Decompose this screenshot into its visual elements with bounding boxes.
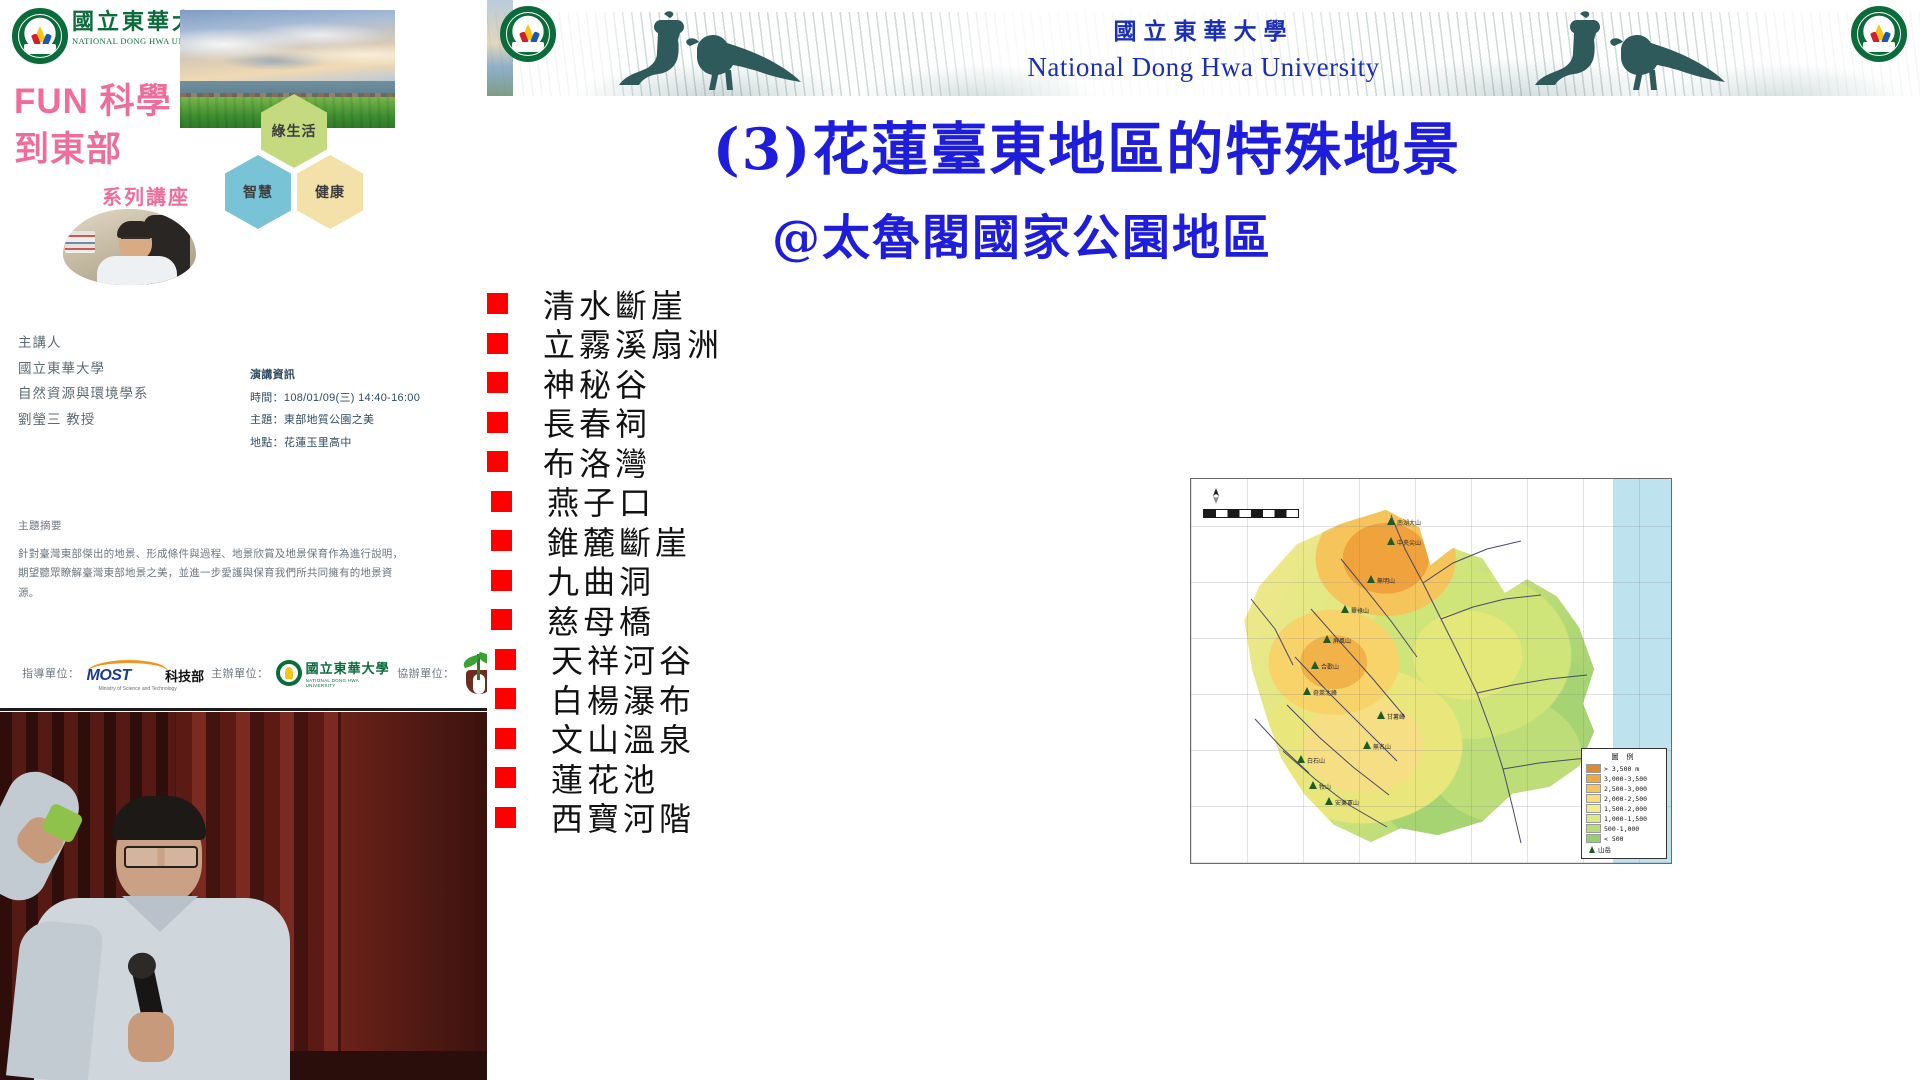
legend-label: 1,500-2,000 [1604,805,1647,813]
guidance-unit-label: 指導單位： [22,665,80,681]
event-venue: 地點：花蓮玉里高中 [250,432,420,455]
mountain-peak-icon [1309,781,1317,789]
taroko-topographic-map: 南湖大山中央尖山無明山畢祿山屏風山合歡山奇萊北峰甘薯峰無名山白石山牧山安東軍山 … [1190,478,1672,864]
peak-label: 牧山 [1319,782,1331,791]
legend-color-swatch [1586,794,1601,803]
legend-row: < 500 [1586,834,1662,843]
mountain-peak-icon [1341,605,1349,613]
ndhu-logo-icon [500,6,556,62]
legend-label: 3,000-3,500 [1604,775,1647,783]
event-info-heading: 演講資訊 [250,364,420,387]
ndhu-logo-small-icon: 國立東華大學 NATIONAL DONG HWA UNIVERSITY [276,658,390,688]
bullet-square-icon [491,570,512,591]
legend-row: 1,000-1,500 [1586,814,1662,823]
bullet-item: 布洛灣 [487,442,817,482]
peak-label: 南湖大山 [1397,518,1421,527]
abstract-body: 針對臺灣東部傑出的地景、形成條件與過程、地景欣賞及地景保育作為進行說明， 期望聽… [18,545,478,603]
sponsor-row: 指導單位： MOST 科技部 Ministry of Science and T… [22,652,487,694]
bullet-item: 燕子口 [487,482,817,522]
bullet-square-icon [487,372,508,393]
event-topic: 主題：東部地質公園之美 [250,409,420,432]
bullet-square-icon [491,609,512,630]
map-scale-bar [1203,509,1299,518]
slide-title: (3)花蓮臺東地區的特殊地景 [487,104,1687,186]
speaker-video-feed[interactable] [0,712,487,1080]
legend-peak-row: 山岳 [1586,844,1662,854]
slide-area: 國立東華大學 National Dong Hwa University (3)花… [487,0,1920,1080]
bullet-item: 蓮花池 [487,758,817,798]
peak-label: 無名山 [1373,742,1391,751]
mountain-peak-icon [1303,687,1311,695]
bullet-square-icon [487,333,508,354]
mountain-peak-icon [1323,635,1331,643]
elevation-legend: 圖 例 > 3,500 m3,000-3,5002,500-3,0002,000… [1581,748,1667,859]
bullet-item: 天祥河谷 [487,640,817,680]
legend-color-swatch [1586,774,1601,783]
speaker-portrait [63,209,196,285]
sprout-logo-icon [462,652,487,694]
abstract-heading: 主題摘要 [18,518,62,533]
most-logo-icon: MOST 科技部 Ministry of Science and Technol… [87,660,205,686]
mountain-peak-icon [1367,575,1375,583]
hexagon-label: 健康 [315,182,345,202]
bullet-item: 立霧溪扇洲 [487,324,817,364]
speaker-info: 主講人 國立東華大學 自然資源與環境學系 劉瑩三 教授 [18,330,149,433]
legend-label: 500-1,000 [1604,825,1639,833]
compass-icon [1207,487,1225,505]
mountain-peak-icon [1297,755,1305,763]
bullet-square-icon [487,451,508,472]
bullet-square-icon [495,728,516,749]
legend-color-swatch [1586,814,1601,823]
mountain-peak-icon [1363,741,1371,749]
speaker-role-label: 主講人 [18,330,149,356]
bullet-square-icon [495,688,516,709]
bullet-square-icon [487,293,508,314]
bullet-item: 西寶河階 [487,798,817,838]
legend-row: 2,000-2,500 [1586,794,1662,803]
abstract-line-2: 期望聽眾瞭解臺灣東部地景之美，並進一步愛護與保育我們所共同擁有的地景資 [18,564,478,583]
bullet-item: 慈母橋 [487,600,817,640]
poster-divider [0,708,487,711]
legend-label: < 500 [1604,835,1624,843]
host-name-en: NATIONAL DONG HWA UNIVERSITY [306,678,391,688]
bullet-item: 清水斷崖 [487,284,817,324]
bullet-square-icon [495,767,516,788]
bullet-item: 長春祠 [487,403,817,443]
legend-label: 1,000-1,500 [1604,815,1647,823]
legend-row: 1,500-2,000 [1586,804,1662,813]
ndhu-logo-icon [12,8,68,64]
legend-color-swatch [1586,804,1601,813]
bullet-label: 西寶河階 [551,794,695,840]
peak-label: 中央尖山 [1397,538,1421,547]
peak-label: 白石山 [1307,756,1325,765]
glasses-icon [124,846,198,868]
speaker-affiliation-university: 國立東華大學 [18,356,149,382]
legend-row: > 3,500 m [1586,764,1662,773]
bullet-item: 九曲洞 [487,561,817,601]
abstract-line-3: 源。 [18,584,478,603]
presentation-screenshot: 國立東華大學 NATIONAL DONG HWA UNIVERSITY FUN … [0,0,1920,1080]
mountain-peak-icon [1387,537,1395,545]
bullet-item: 錐麓斷崖 [487,521,817,561]
abstract-line-1: 針對臺灣東部傑出的地景、形成條件與過程、地景欣賞及地景保育作為進行說明， [18,545,478,564]
speaker-name: 劉瑩三 教授 [18,407,149,433]
hexagon-health: 健康 [297,155,363,229]
slide-subtitle: @太魯閣國家公園地區 [472,198,1572,268]
speaker-affiliation-department: 自然資源與環境學系 [18,381,149,407]
mountain-peak-icon [1387,517,1395,525]
ndhu-logo-icon [1851,6,1907,62]
legend-label: > 3,500 m [1604,765,1639,773]
bullet-item: 白楊瀑布 [487,679,817,719]
host-unit-label: 主辦單位： [211,665,269,681]
series-title-line2: 到東部 [14,130,244,170]
legend-color-swatch [1586,824,1601,833]
mountain-peak-icon [1325,797,1333,805]
hexagon-label: 綠生活 [272,121,317,141]
host-name-cn: 國立東華大學 [306,661,390,676]
series-title-line3: 系列講座 [102,181,244,210]
event-info: 演講資訊 時間：108/01/09(三) 14:40-16:00 主題：東部地質… [250,364,420,454]
coorganizer-unit-label: 協辦單位： [397,665,455,681]
legend-label: 2,000-2,500 [1604,795,1647,803]
legend-color-swatch [1586,834,1601,843]
peak-label: 屏風山 [1333,636,1351,645]
banner-title-cn: 國立東華大學 [487,12,1920,46]
hexagon-label: 智慧 [243,182,273,202]
bullet-list: 清水斷崖立霧溪扇洲神秘谷長春祠布洛灣燕子口錐麓斷崖九曲洞慈母橋天祥河谷白楊瀑布文… [487,284,817,837]
bullet-square-icon [491,491,512,512]
university-banner: 國立東華大學 National Dong Hwa University [487,0,1920,96]
bullet-item: 文山溫泉 [487,719,817,759]
legend-row: 3,000-3,500 [1586,774,1662,783]
mountain-peak-icon [1589,846,1595,853]
seminar-poster-panel: 國立東華大學 NATIONAL DONG HWA UNIVERSITY FUN … [0,0,487,712]
banner-title-block: 國立東華大學 National Dong Hwa University [487,12,1920,83]
bullet-square-icon [495,807,516,828]
peak-label: 安東軍山 [1335,798,1359,807]
legend-label: 2,500-3,000 [1604,785,1647,793]
bullet-square-icon [495,649,516,670]
legend-heading: 圖 例 [1586,752,1662,762]
legend-row: 2,500-3,000 [1586,784,1662,793]
peak-label: 畢祿山 [1351,606,1369,615]
legend-color-swatch [1586,764,1601,773]
mountain-peak-icon [1311,661,1319,669]
peak-label: 無明山 [1377,576,1395,585]
most-label-en: Ministry of Science and Technology [99,686,177,692]
most-label-cn: 科技部 [165,666,204,685]
banner-title-en: National Dong Hwa University [487,52,1920,83]
bullet-square-icon [487,412,508,433]
legend-row: 500-1,000 [1586,824,1662,833]
peak-label: 合歡山 [1321,662,1339,671]
event-time: 時間：108/01/09(三) 14:40-16:00 [250,387,420,410]
peak-label: 奇萊北峰 [1313,688,1337,697]
mountain-peak-icon [1377,711,1385,719]
bullet-square-icon [491,530,512,551]
bullet-item: 神秘谷 [487,363,817,403]
peak-label: 甘薯峰 [1387,712,1405,721]
legend-peak-label: 山岳 [1598,844,1611,854]
legend-color-swatch [1586,784,1601,793]
